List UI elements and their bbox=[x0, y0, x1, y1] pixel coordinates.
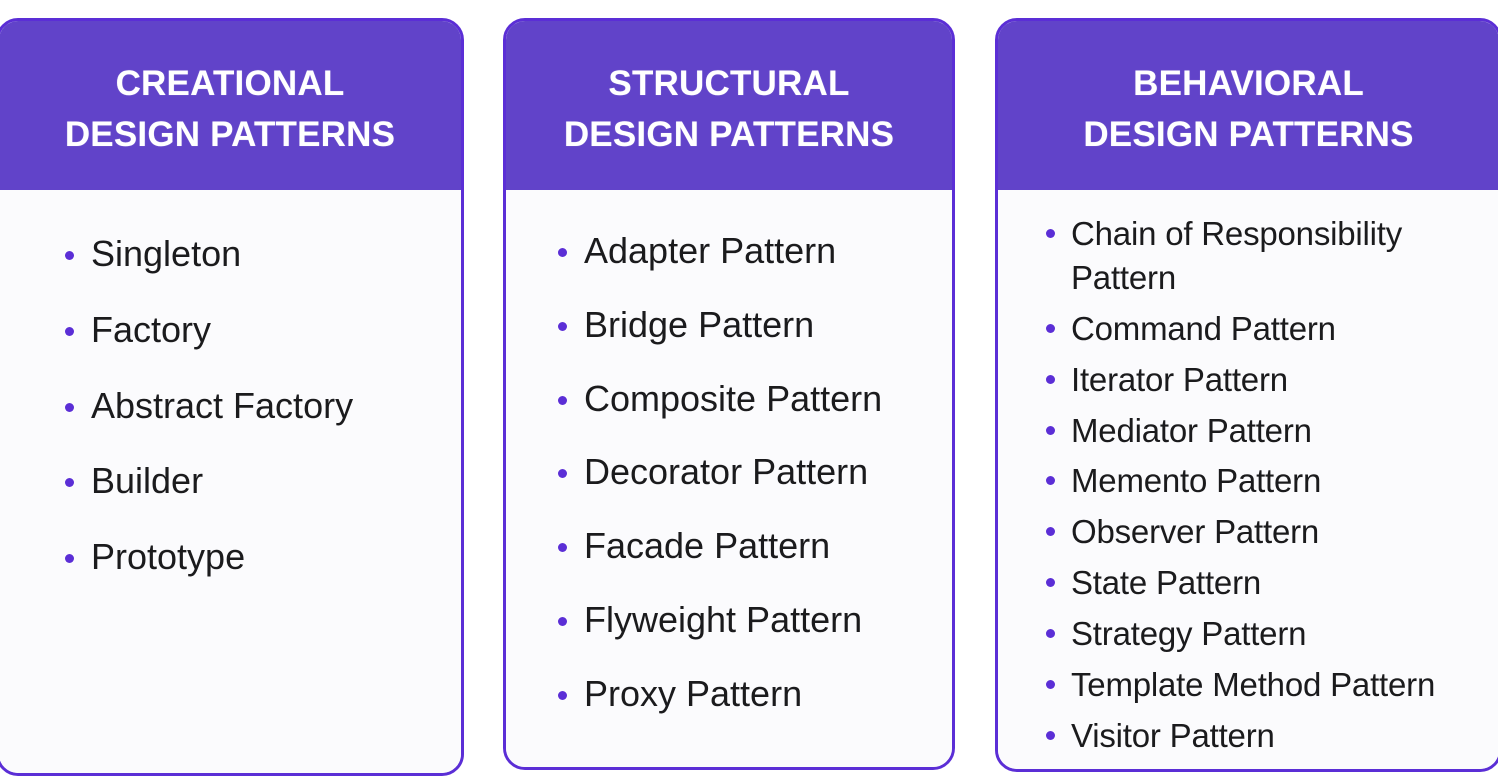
bullet-icon bbox=[1046, 324, 1055, 333]
list-item[interactable]: Flyweight Pattern bbox=[558, 601, 952, 639]
bullet-icon bbox=[558, 469, 567, 478]
list-item-label: Singleton bbox=[91, 235, 461, 273]
list-item[interactable]: Chain of Responsibility Pattern bbox=[1046, 212, 1498, 300]
list-item[interactable]: Singleton bbox=[65, 235, 461, 273]
bullet-icon bbox=[1046, 229, 1055, 238]
card-body-behavioral: Chain of Responsibility Pattern Command … bbox=[998, 190, 1498, 769]
list-item-label: Proxy Pattern bbox=[584, 675, 952, 713]
card-structural: STRUCTURAL DESIGN PATTERNS Adapter Patte… bbox=[503, 18, 955, 770]
list-item-label: Strategy Pattern bbox=[1071, 612, 1498, 656]
list-item[interactable]: Facade Pattern bbox=[558, 527, 952, 565]
list-item[interactable]: Iterator Pattern bbox=[1046, 358, 1498, 402]
card-header-structural: STRUCTURAL DESIGN PATTERNS bbox=[506, 21, 952, 190]
bullet-icon bbox=[1046, 680, 1055, 689]
list-item-label: Visitor Pattern bbox=[1071, 714, 1498, 758]
bullet-icon bbox=[65, 327, 74, 336]
card-creational: CREATIONAL DESIGN PATTERNS Singleton Fac… bbox=[0, 18, 464, 776]
bullet-icon bbox=[1046, 629, 1055, 638]
list-item[interactable]: Decorator Pattern bbox=[558, 453, 952, 491]
list-item-label: Factory bbox=[91, 311, 461, 349]
list-item-label: Iterator Pattern bbox=[1071, 358, 1498, 402]
card-title-line1: STRUCTURAL bbox=[516, 59, 942, 110]
bullet-icon bbox=[1046, 476, 1055, 485]
card-title-line2: DESIGN PATTERNS bbox=[1008, 110, 1489, 161]
list-item-label: State Pattern bbox=[1071, 561, 1498, 605]
list-item[interactable]: Proxy Pattern bbox=[558, 675, 952, 713]
list-item-label: Chain of Responsibility Pattern bbox=[1071, 212, 1498, 300]
bullet-icon bbox=[1046, 426, 1055, 435]
bullet-icon bbox=[1046, 578, 1055, 587]
list-item[interactable]: Builder bbox=[65, 462, 461, 500]
bullet-icon bbox=[65, 554, 74, 563]
list-item-label: Observer Pattern bbox=[1071, 510, 1498, 554]
list-item-label: Adapter Pattern bbox=[584, 232, 952, 270]
list-item-label: Composite Pattern bbox=[584, 380, 952, 418]
card-body-structural: Adapter Pattern Bridge Pattern Composite… bbox=[506, 190, 952, 767]
list-item-label: Builder bbox=[91, 462, 461, 500]
list-item[interactable]: State Pattern bbox=[1046, 561, 1498, 605]
bullet-icon bbox=[558, 322, 567, 331]
list-item-label: Abstract Factory bbox=[91, 387, 461, 425]
list-item-label: Prototype bbox=[91, 538, 461, 576]
bullet-icon bbox=[558, 543, 567, 552]
bullet-icon bbox=[558, 617, 567, 626]
card-title-line1: BEHAVIORAL bbox=[1008, 59, 1489, 110]
card-header-creational: CREATIONAL DESIGN PATTERNS bbox=[0, 21, 461, 190]
list-item[interactable]: Observer Pattern bbox=[1046, 510, 1498, 554]
list-item[interactable]: Mediator Pattern bbox=[1046, 409, 1498, 453]
list-item[interactable]: Adapter Pattern bbox=[558, 232, 952, 270]
list-item-label: Template Method Pattern bbox=[1071, 663, 1498, 707]
bullet-icon bbox=[558, 248, 567, 257]
list-item[interactable]: Factory bbox=[65, 311, 461, 349]
card-body-creational: Singleton Factory Abstract Factory Build… bbox=[0, 190, 461, 773]
pattern-list-behavioral: Chain of Responsibility Pattern Command … bbox=[998, 190, 1498, 758]
list-item-label: Facade Pattern bbox=[584, 527, 952, 565]
card-behavioral: BEHAVIORAL DESIGN PATTERNS Chain of Resp… bbox=[995, 18, 1498, 772]
bullet-icon bbox=[65, 403, 74, 412]
list-item[interactable]: Command Pattern bbox=[1046, 307, 1498, 351]
list-item[interactable]: Bridge Pattern bbox=[558, 306, 952, 344]
list-item[interactable]: Memento Pattern bbox=[1046, 459, 1498, 503]
list-item[interactable]: Template Method Pattern bbox=[1046, 663, 1498, 707]
list-item-label: Decorator Pattern bbox=[584, 453, 952, 491]
list-item[interactable]: Strategy Pattern bbox=[1046, 612, 1498, 656]
bullet-icon bbox=[1046, 375, 1055, 384]
bullet-icon bbox=[65, 251, 74, 260]
bullet-icon bbox=[65, 478, 74, 487]
list-item-label: Memento Pattern bbox=[1071, 459, 1498, 503]
list-item-label: Command Pattern bbox=[1071, 307, 1498, 351]
pattern-list-structural: Adapter Pattern Bridge Pattern Composite… bbox=[506, 190, 952, 713]
card-header-behavioral: BEHAVIORAL DESIGN PATTERNS bbox=[998, 21, 1498, 190]
card-title-line1: CREATIONAL bbox=[9, 59, 451, 110]
list-item-label: Flyweight Pattern bbox=[584, 601, 952, 639]
bullet-icon bbox=[558, 691, 567, 700]
list-item[interactable]: Prototype bbox=[65, 538, 461, 576]
list-item-label: Mediator Pattern bbox=[1071, 409, 1498, 453]
card-title-line2: DESIGN PATTERNS bbox=[516, 110, 942, 161]
bullet-icon bbox=[558, 396, 567, 405]
list-item[interactable]: Composite Pattern bbox=[558, 380, 952, 418]
design-patterns-board: CREATIONAL DESIGN PATTERNS Singleton Fac… bbox=[0, 0, 1498, 778]
pattern-list-creational: Singleton Factory Abstract Factory Build… bbox=[0, 190, 461, 576]
bullet-icon bbox=[1046, 731, 1055, 740]
list-item-label: Bridge Pattern bbox=[584, 306, 952, 344]
list-item[interactable]: Visitor Pattern bbox=[1046, 714, 1498, 758]
bullet-icon bbox=[1046, 527, 1055, 536]
list-item[interactable]: Abstract Factory bbox=[65, 387, 461, 425]
card-title-line2: DESIGN PATTERNS bbox=[9, 110, 451, 161]
